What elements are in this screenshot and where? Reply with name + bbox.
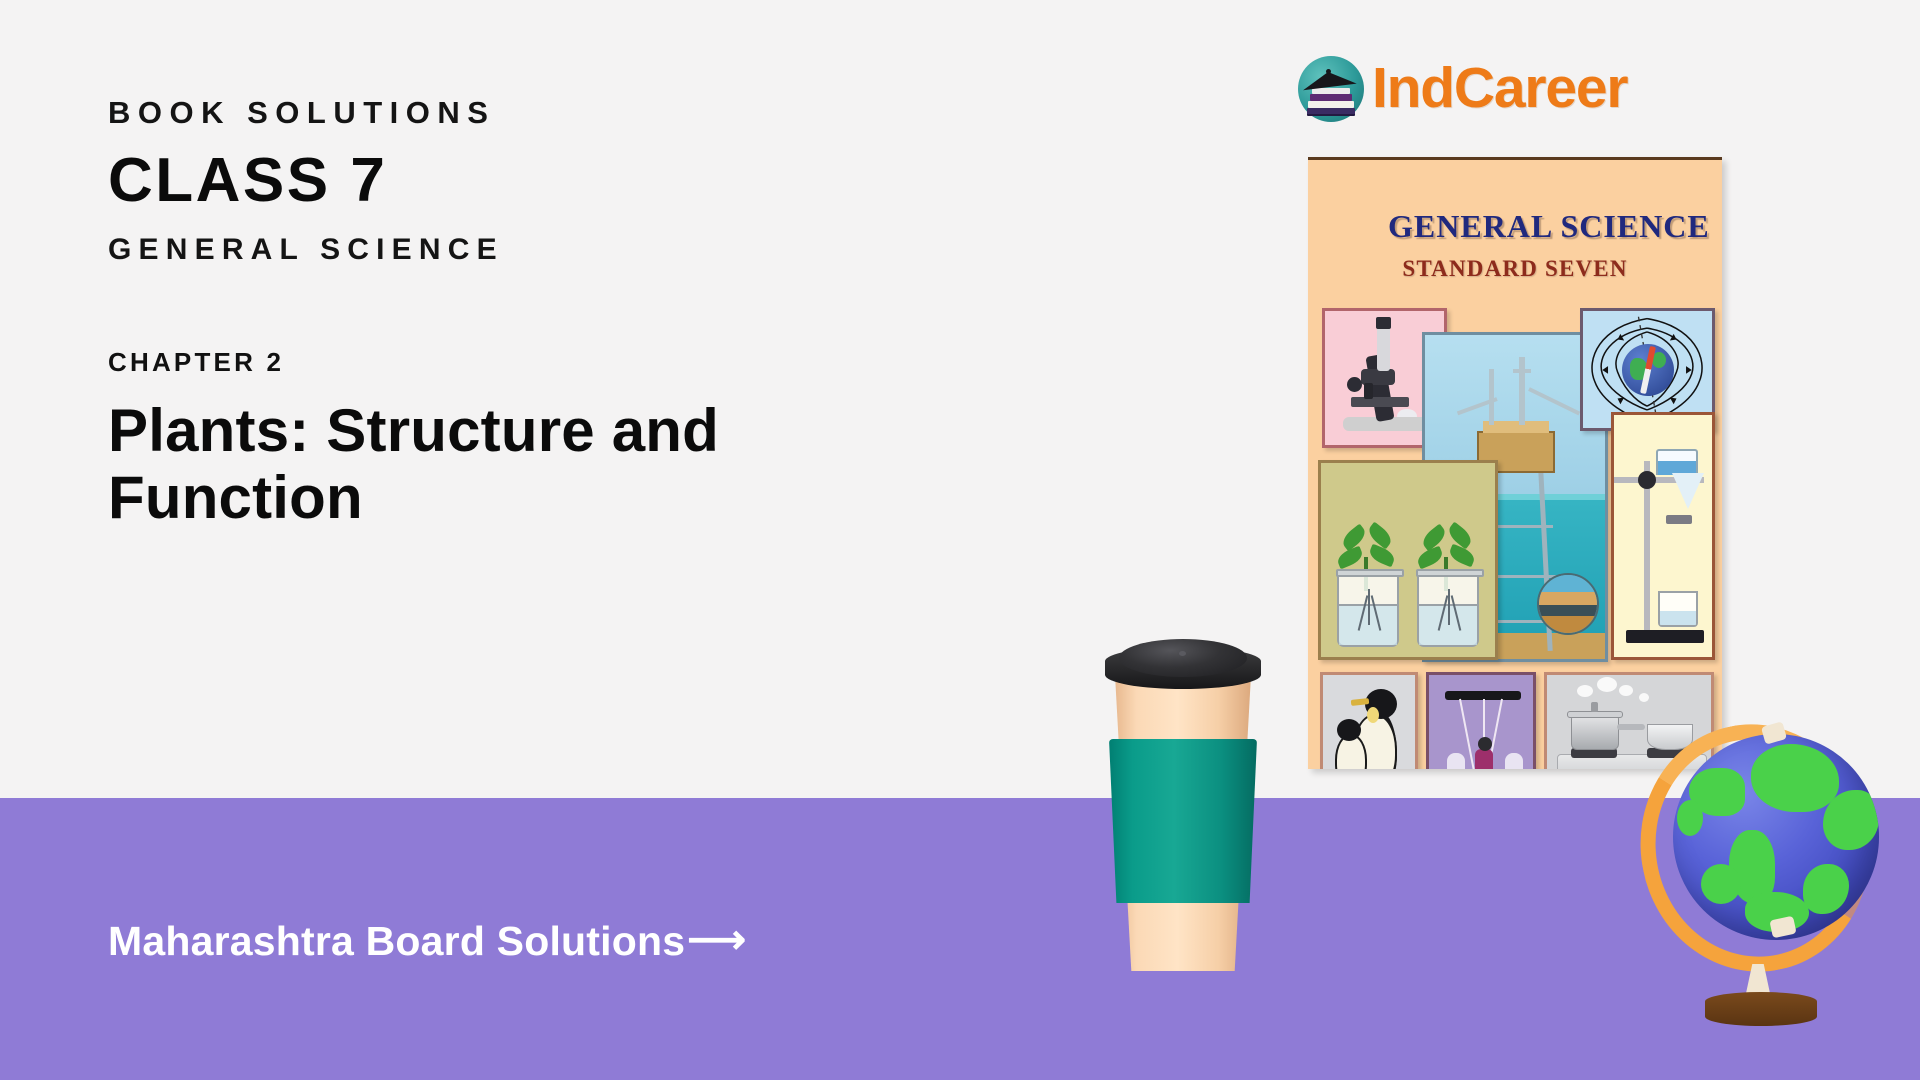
book-cover-title: GENERAL SCIENCE: [1388, 208, 1722, 245]
maharashtra-board-solutions-cta[interactable]: Maharashtra Board Solutions ⟶: [108, 918, 746, 965]
headline-text-block: BOOK SOLUTIONS CLASS 7 GENERAL SCIENCE C…: [108, 96, 1028, 531]
cover-cell-swing: [1426, 672, 1536, 769]
banner-canvas: BOOK SOLUTIONS CLASS 7 GENERAL SCIENCE C…: [0, 0, 1920, 1080]
coffee-cup-illustration: [1109, 647, 1257, 977]
earth-crust-cutaway-icon: [1537, 573, 1599, 635]
book-cover-standard: STANDARD SEVEN: [1308, 256, 1722, 282]
cover-cell-plants-in-jars: [1318, 460, 1498, 660]
graduation-cap-button-icon: [1326, 69, 1331, 74]
logo-wordmark: IndCareer: [1372, 60, 1627, 117]
cta-label: Maharashtra Board Solutions: [108, 918, 685, 965]
graduation-cap-books-logo-icon: [1296, 52, 1368, 124]
globe-wooden-base: [1705, 992, 1817, 1026]
arrow-right-icon: ⟶: [687, 919, 746, 960]
books-stack-icon: [1307, 88, 1355, 116]
globe-sphere: [1673, 734, 1879, 940]
eyebrow-book-solutions: BOOK SOLUTIONS: [108, 96, 1028, 130]
chapter-title: Plants: Structure and Function: [108, 397, 988, 531]
cup-sleeve: [1109, 739, 1257, 903]
cup-lid-top: [1119, 639, 1247, 677]
chapter-number-label: CHAPTER 2: [108, 348, 1028, 377]
textbook-cover-image: GENERAL SCIENCE STANDARD SEVEN: [1308, 157, 1722, 769]
cover-cell-lab-apparatus: [1611, 412, 1715, 660]
desk-globe-illustration: [1635, 700, 1907, 1040]
class-heading: CLASS 7: [108, 144, 1028, 217]
cup-lid-vent: [1179, 651, 1186, 656]
cover-cell-penguins: [1320, 672, 1418, 769]
indcareer-logo[interactable]: IndCareer: [1296, 44, 1627, 132]
subject-heading: GENERAL SCIENCE: [108, 233, 1028, 266]
